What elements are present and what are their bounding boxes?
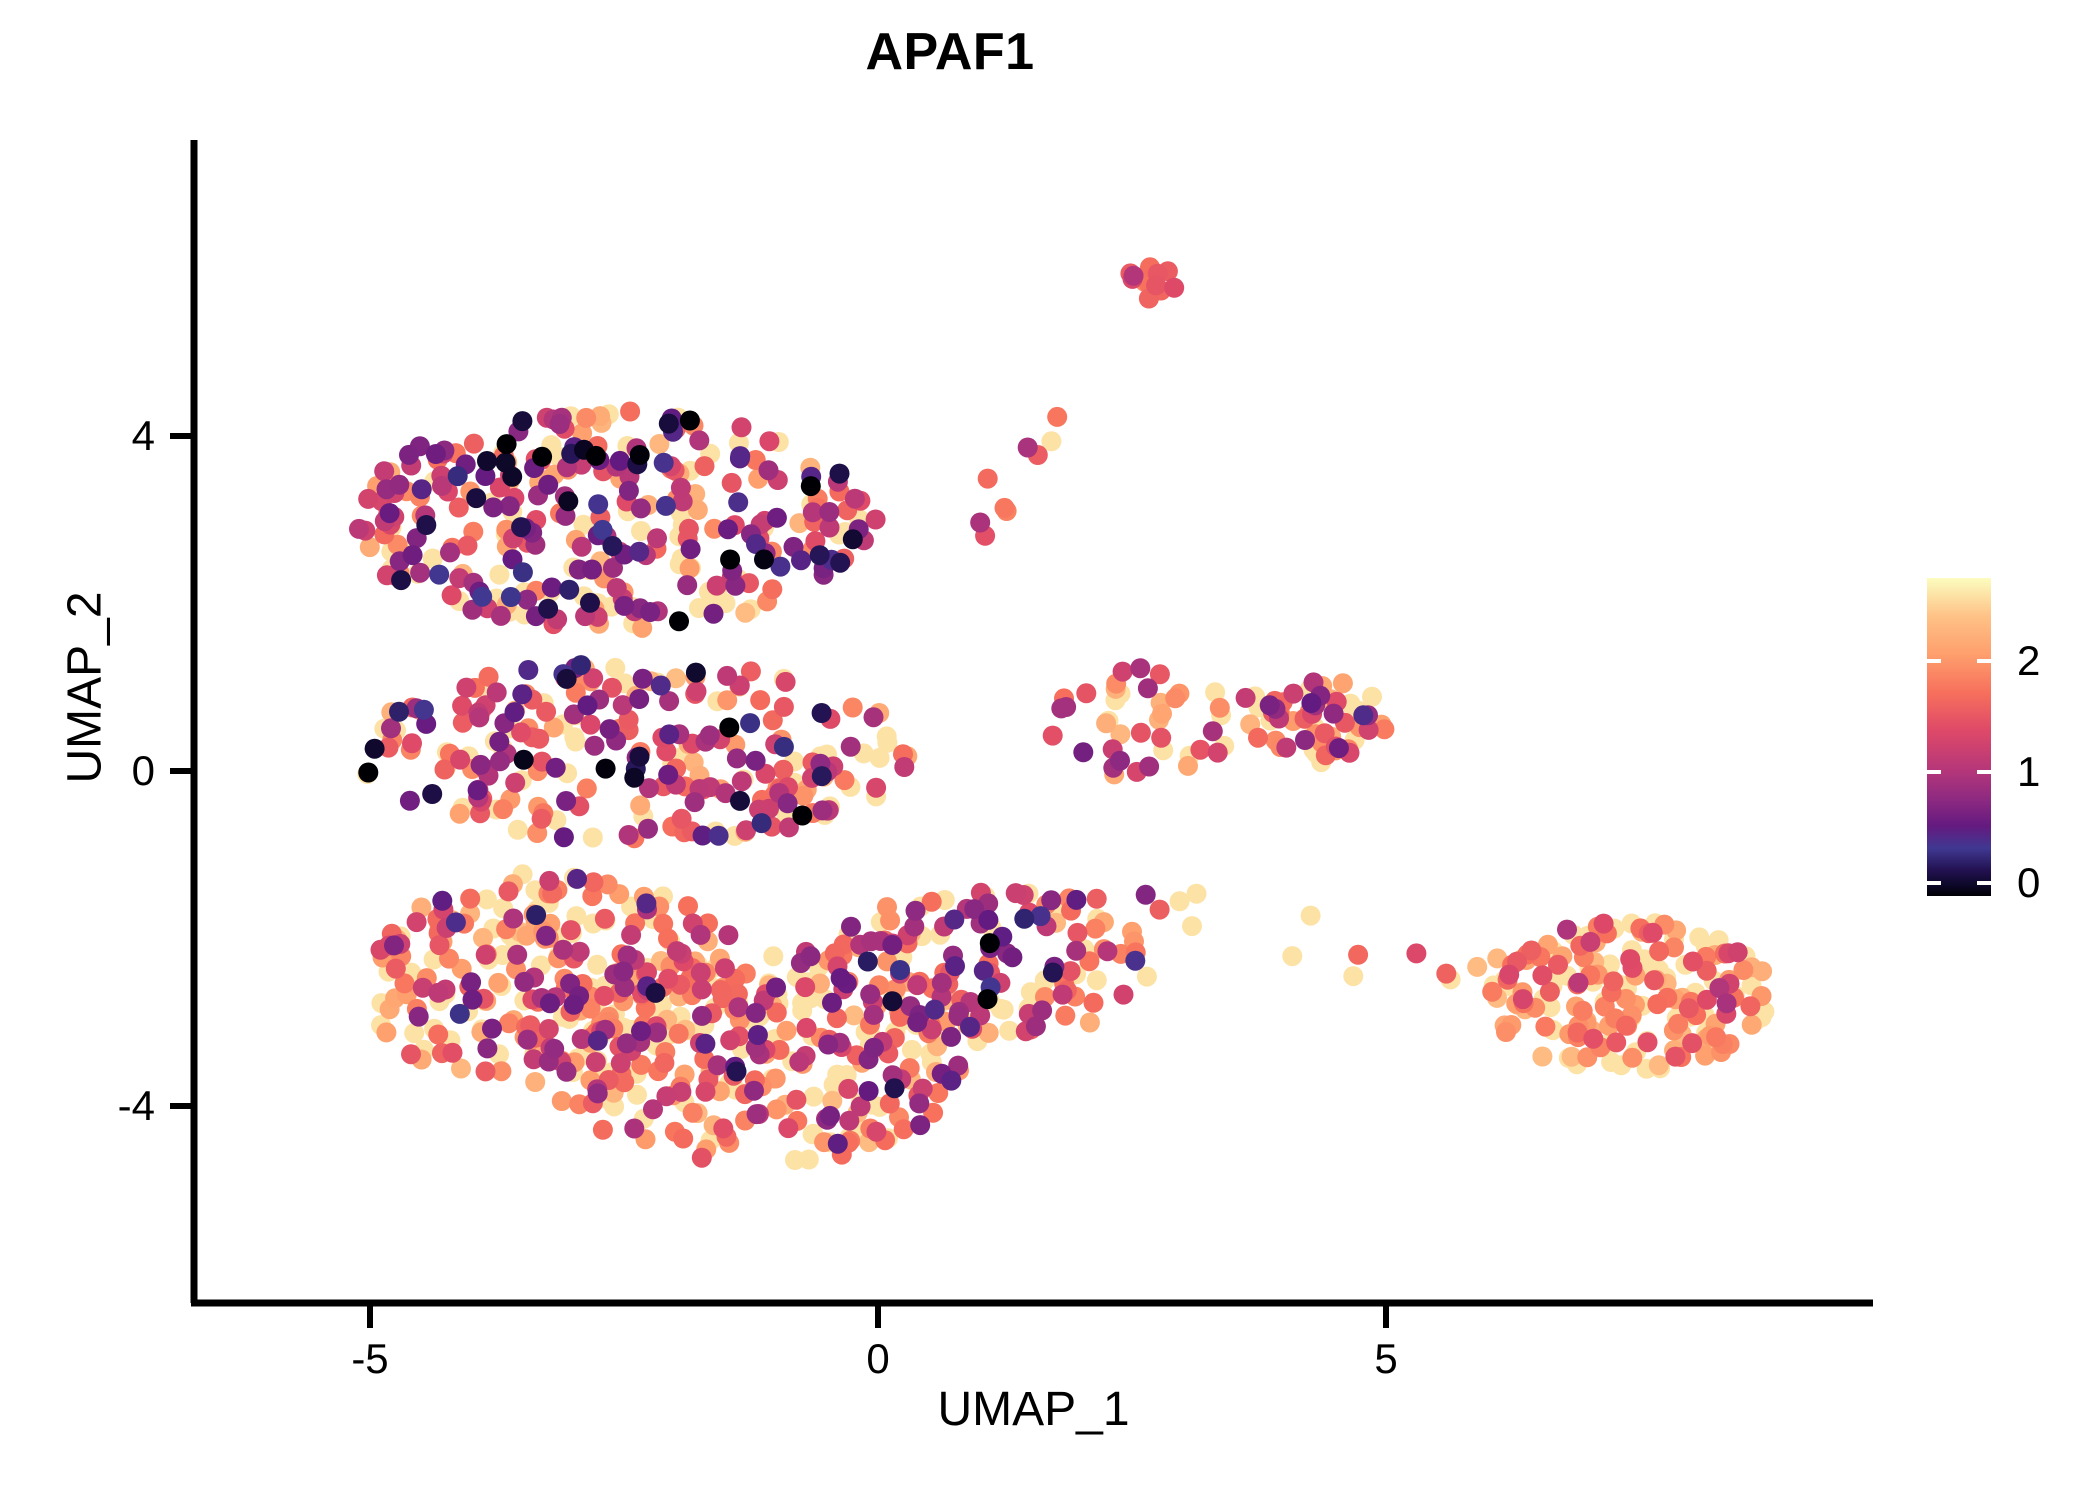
scatter-point bbox=[514, 972, 534, 992]
scatter-point bbox=[1283, 684, 1303, 704]
scatter-point bbox=[476, 945, 496, 965]
scatter-point bbox=[1343, 966, 1363, 986]
scatter-point bbox=[624, 768, 644, 788]
scatter-point bbox=[727, 748, 747, 768]
scatter-point bbox=[944, 910, 964, 930]
scatter-point bbox=[651, 676, 671, 696]
scatter-point bbox=[630, 747, 650, 767]
scatter-point bbox=[1051, 698, 1071, 718]
scatter-point bbox=[1125, 951, 1145, 971]
scatter-point bbox=[432, 891, 452, 911]
scatter-point bbox=[503, 909, 523, 929]
scatter-point bbox=[1087, 889, 1107, 909]
scatter-point bbox=[607, 578, 627, 598]
scatter-point bbox=[1068, 923, 1088, 943]
scatter-point bbox=[1573, 1001, 1593, 1021]
scatter-point bbox=[430, 935, 450, 955]
scatter-point bbox=[797, 1018, 817, 1038]
scatter-plot-panel bbox=[0, 0, 2100, 1500]
scatter-point bbox=[448, 466, 468, 486]
scatter-point bbox=[1165, 688, 1185, 708]
scatter-point bbox=[409, 1007, 429, 1027]
scatter-point bbox=[1644, 970, 1664, 990]
scatter-point bbox=[587, 955, 607, 975]
scatter-point bbox=[588, 1083, 608, 1103]
scatter-point bbox=[728, 492, 748, 512]
scatter-point bbox=[866, 510, 886, 530]
scatter-point bbox=[1018, 438, 1038, 458]
scatter-point bbox=[499, 881, 519, 901]
scatter-point bbox=[759, 460, 779, 480]
scatter-point bbox=[539, 1019, 559, 1039]
scatter-point bbox=[717, 666, 737, 686]
y-axis-title: UMAP_2 bbox=[58, 388, 113, 988]
scatter-point bbox=[1136, 885, 1156, 905]
scatter-point bbox=[1208, 743, 1228, 763]
scatter-point bbox=[1248, 728, 1268, 748]
x-axis-title: UMAP_1 bbox=[194, 1382, 1873, 1437]
scatter-point bbox=[508, 820, 528, 840]
scatter-point bbox=[429, 565, 449, 585]
scatter-point bbox=[700, 725, 720, 745]
scatter-point bbox=[1130, 658, 1150, 678]
scatter-point bbox=[629, 689, 649, 709]
scatter-point bbox=[1532, 965, 1552, 985]
scatter-point bbox=[557, 1062, 577, 1082]
scatter-point bbox=[732, 771, 752, 791]
scatter-point bbox=[640, 602, 660, 622]
scatter-point bbox=[1295, 730, 1315, 750]
scatter-point bbox=[499, 1013, 519, 1033]
scatter-point bbox=[391, 570, 411, 590]
scatter-point bbox=[538, 599, 558, 619]
scatter-point bbox=[995, 498, 1015, 518]
scatter-point bbox=[1535, 1017, 1555, 1037]
scatter-point bbox=[669, 1024, 689, 1044]
scatter-point bbox=[890, 960, 910, 980]
scatter-point bbox=[1203, 721, 1223, 741]
scatter-point bbox=[715, 958, 735, 978]
scatter-point bbox=[505, 702, 525, 722]
scatter-point bbox=[536, 702, 556, 722]
scatter-point bbox=[1178, 756, 1198, 776]
scatter-point bbox=[695, 1034, 715, 1054]
scatter-point bbox=[1301, 693, 1321, 713]
scatter-point bbox=[818, 1035, 838, 1055]
scatter-point bbox=[859, 1081, 879, 1101]
scatter-point bbox=[389, 702, 409, 722]
scatter-point bbox=[512, 684, 532, 704]
scatter-point bbox=[907, 1012, 927, 1032]
scatter-point bbox=[603, 536, 623, 556]
scatter-point bbox=[1638, 1032, 1658, 1052]
scatter-point bbox=[970, 513, 990, 533]
scatter-point bbox=[638, 819, 658, 839]
scatter-point bbox=[866, 778, 886, 798]
scatter-point bbox=[980, 933, 1000, 953]
scatter-point bbox=[729, 997, 749, 1017]
scatter-point bbox=[374, 461, 394, 481]
scatter-point bbox=[822, 993, 842, 1013]
scatter-point bbox=[925, 1000, 945, 1020]
scatter-point bbox=[358, 763, 378, 783]
scatter-point bbox=[812, 800, 832, 820]
scatter-point bbox=[595, 909, 615, 929]
scatter-point bbox=[426, 444, 446, 464]
scatter-point bbox=[785, 1150, 805, 1170]
scatter-point bbox=[389, 475, 409, 495]
scatter-point bbox=[858, 952, 878, 972]
scatter-point bbox=[401, 1044, 421, 1064]
scatter-point bbox=[557, 669, 577, 689]
scatter-point bbox=[600, 719, 620, 739]
scatter-point bbox=[586, 446, 606, 466]
scatter-point bbox=[407, 912, 427, 932]
scatter-point bbox=[517, 926, 537, 946]
scatter-point bbox=[774, 737, 794, 757]
scatter-point bbox=[673, 1129, 693, 1149]
scatter-point bbox=[860, 984, 880, 1004]
scatter-point bbox=[838, 1079, 858, 1099]
scatter-point bbox=[945, 956, 965, 976]
scatter-point bbox=[1620, 949, 1640, 969]
scatter-point bbox=[774, 697, 794, 717]
scatter-point bbox=[727, 1062, 747, 1082]
scatter-point bbox=[1014, 909, 1034, 929]
scatter-point bbox=[1496, 1022, 1516, 1042]
scatter-point bbox=[1348, 945, 1368, 965]
scatter-point bbox=[544, 1039, 564, 1059]
scatter-point bbox=[1131, 723, 1151, 743]
scatter-point bbox=[552, 1091, 572, 1111]
scatter-point bbox=[358, 489, 378, 509]
scatter-point bbox=[410, 563, 430, 583]
scatter-point bbox=[735, 603, 755, 623]
scatter-point bbox=[746, 1003, 766, 1023]
scatter-point bbox=[1170, 891, 1190, 911]
scatter-point bbox=[630, 795, 650, 815]
scatter-point bbox=[812, 766, 832, 786]
scatter-point bbox=[561, 920, 581, 940]
scatter-point bbox=[1282, 946, 1302, 966]
scatter-point bbox=[1583, 1029, 1603, 1049]
scatter-point bbox=[680, 411, 700, 431]
scatter-point bbox=[403, 545, 423, 565]
scatter-point bbox=[686, 663, 706, 683]
scatter-point bbox=[596, 759, 616, 779]
scatter-point bbox=[1066, 941, 1086, 961]
scatter-point bbox=[882, 991, 902, 1011]
scatter-point bbox=[683, 1103, 703, 1123]
scatter-point bbox=[839, 1111, 859, 1131]
scatter-point bbox=[819, 502, 839, 522]
y-axis-ticks bbox=[170, 436, 194, 1106]
scatter-point bbox=[376, 1022, 396, 1042]
scatter-point bbox=[932, 973, 952, 993]
scatter-point bbox=[593, 1120, 613, 1140]
scatter-point bbox=[399, 445, 419, 465]
scatter-point bbox=[1329, 738, 1349, 758]
scatter-point bbox=[643, 1099, 663, 1119]
color-legend: 012 bbox=[1927, 578, 2087, 898]
scatter-point bbox=[1026, 1016, 1046, 1036]
scatter-point bbox=[1138, 678, 1158, 698]
scatter-point bbox=[906, 901, 926, 921]
scatter-point bbox=[820, 1106, 840, 1126]
scatter-point bbox=[748, 1025, 768, 1045]
scatter-point bbox=[1406, 943, 1426, 963]
scatter-point bbox=[654, 453, 674, 473]
scatter-point bbox=[1706, 1027, 1726, 1047]
scatter-point bbox=[722, 473, 742, 493]
scatter-point bbox=[752, 813, 772, 833]
scatter-point bbox=[446, 912, 466, 932]
scatter-point bbox=[692, 1006, 712, 1026]
scatter-point bbox=[1682, 1033, 1702, 1053]
scatter-point bbox=[1096, 713, 1116, 733]
scatter-point bbox=[882, 935, 902, 955]
scatter-point bbox=[1260, 695, 1280, 715]
scatter-point bbox=[631, 498, 651, 518]
umap-feature-plot: APAF1 -404 -505 UMAP_1 UMAP_2 012 bbox=[0, 0, 2100, 1500]
scatter-point bbox=[578, 695, 598, 715]
scatter-point bbox=[559, 580, 579, 600]
scatter-point bbox=[611, 1053, 631, 1073]
scatter-point bbox=[469, 707, 489, 727]
scatter-point bbox=[791, 550, 811, 570]
scatter-point bbox=[525, 1072, 545, 1092]
scatter-point bbox=[450, 804, 470, 824]
y-tick-label: -4 bbox=[10, 1082, 155, 1130]
scatter-point bbox=[960, 1017, 980, 1037]
scatter-point bbox=[978, 469, 998, 489]
scatter-point bbox=[365, 739, 385, 759]
scatter-point bbox=[1110, 751, 1130, 771]
scatter-point bbox=[546, 758, 566, 778]
x-tick-label: 5 bbox=[1374, 1335, 1397, 1383]
scatter-point bbox=[1649, 941, 1669, 961]
scatter-point bbox=[777, 1021, 797, 1041]
scatter-point bbox=[1301, 906, 1321, 926]
scatter-point bbox=[910, 1115, 930, 1135]
scatter-point bbox=[491, 606, 511, 626]
scatter-point bbox=[740, 713, 760, 733]
scatter-point bbox=[754, 549, 774, 569]
scatter-point bbox=[477, 451, 497, 471]
colorbar-tick-label: 1 bbox=[2017, 748, 2040, 796]
scatter-point bbox=[1606, 1032, 1626, 1052]
scatter-point bbox=[1076, 683, 1096, 703]
scatter-point bbox=[1276, 738, 1296, 758]
scatter-point bbox=[619, 481, 639, 501]
colorbar-tick-mark bbox=[1977, 770, 1991, 774]
scatter-point bbox=[864, 1005, 884, 1025]
scatter-point bbox=[1643, 923, 1663, 943]
scatter-point bbox=[1499, 965, 1519, 985]
scatter-point bbox=[536, 926, 556, 946]
scatter-point bbox=[384, 935, 404, 955]
scatter-point bbox=[1151, 728, 1171, 748]
scatter-point bbox=[450, 750, 470, 770]
scatter-point bbox=[704, 604, 724, 624]
scatter-point bbox=[443, 1043, 463, 1063]
scatter-point bbox=[1603, 971, 1623, 991]
scatter-point bbox=[513, 562, 533, 582]
scatter-point bbox=[1513, 989, 1533, 1009]
scatter-point bbox=[1146, 275, 1166, 295]
scatter-point bbox=[1362, 687, 1382, 707]
scatter-point bbox=[490, 751, 510, 771]
scatter-point bbox=[621, 925, 641, 945]
scatter-point bbox=[1616, 1016, 1636, 1036]
scatter-point bbox=[487, 682, 507, 702]
scatter-point bbox=[572, 537, 592, 557]
scatter-point bbox=[542, 578, 562, 598]
scatter-point bbox=[679, 519, 699, 539]
scatter-point bbox=[746, 751, 766, 771]
scatter-point bbox=[718, 925, 738, 945]
scatter-point bbox=[581, 715, 601, 735]
scatter-point bbox=[696, 1082, 716, 1102]
colorbar-tick-mark bbox=[1977, 659, 1991, 663]
scatter-point bbox=[584, 872, 604, 892]
scatter-point bbox=[1752, 961, 1772, 981]
colorbar-gradient bbox=[1927, 578, 1991, 896]
scatter-point bbox=[1717, 993, 1737, 1013]
scatter-point bbox=[493, 799, 513, 819]
scatter-point bbox=[767, 508, 787, 528]
scatter-point bbox=[540, 993, 560, 1013]
scatter-point bbox=[482, 1019, 502, 1039]
scatter-point bbox=[1073, 742, 1093, 762]
scatter-point bbox=[582, 560, 602, 580]
scatter-point bbox=[795, 977, 815, 997]
scatter-point bbox=[489, 565, 509, 585]
scatter-point bbox=[909, 1093, 929, 1113]
scatter-point bbox=[941, 1027, 961, 1047]
scatter-point bbox=[691, 925, 711, 945]
scatter-point bbox=[763, 946, 783, 966]
colorbar-tick-mark bbox=[1977, 881, 1991, 885]
scatter-point bbox=[1080, 1013, 1100, 1033]
scatter-point bbox=[442, 585, 462, 605]
scatter-point bbox=[428, 983, 448, 1003]
scatter-point bbox=[550, 414, 570, 434]
scatter-point bbox=[877, 726, 897, 746]
scatter-point bbox=[349, 519, 369, 539]
scatter-point bbox=[526, 905, 546, 925]
scatter-point bbox=[1467, 957, 1487, 977]
scatter-point bbox=[501, 587, 521, 607]
scatter-point bbox=[613, 962, 633, 982]
scatter-point bbox=[1324, 704, 1344, 724]
scatter-point bbox=[720, 550, 740, 570]
scatter-point bbox=[677, 575, 697, 595]
scatter-point bbox=[422, 784, 442, 804]
scatter-point bbox=[1679, 998, 1699, 1018]
scatter-point bbox=[1580, 932, 1600, 952]
x-axis-ticks bbox=[370, 1303, 1386, 1328]
scatter-point bbox=[594, 986, 614, 1006]
scatter-point bbox=[583, 828, 603, 848]
scatter-point bbox=[380, 503, 400, 523]
scatter-point bbox=[619, 825, 639, 845]
scatter-point bbox=[1043, 726, 1063, 746]
scatter-point bbox=[558, 491, 578, 511]
scatter-point bbox=[1647, 994, 1667, 1014]
scatter-point bbox=[450, 1004, 470, 1024]
scatter-point bbox=[672, 809, 692, 829]
scatter-point bbox=[1053, 985, 1073, 1005]
scatter-point bbox=[620, 402, 640, 422]
scatter-point bbox=[719, 718, 739, 738]
scatter-point bbox=[1728, 942, 1748, 962]
scatter-point bbox=[776, 672, 796, 692]
scatter-point bbox=[468, 780, 488, 800]
scatter-point bbox=[539, 871, 559, 891]
scatter-point bbox=[941, 1071, 961, 1091]
scatter-point bbox=[830, 464, 850, 484]
scatter-point bbox=[624, 1119, 644, 1139]
scatter-point bbox=[750, 690, 770, 710]
scatter-point bbox=[588, 494, 608, 514]
scatter-point bbox=[767, 1099, 787, 1119]
colorbar-tick-mark bbox=[1927, 770, 1941, 774]
scatter-point bbox=[1087, 970, 1107, 990]
scatter-point bbox=[1047, 407, 1067, 427]
scatter-point bbox=[476, 1061, 496, 1081]
scatter-point bbox=[464, 434, 484, 454]
scatter-point bbox=[538, 475, 558, 495]
scatter-point bbox=[1689, 927, 1709, 947]
scatter-point bbox=[792, 806, 812, 826]
scatter-point bbox=[843, 698, 863, 718]
scatter-point bbox=[483, 497, 503, 517]
scatter-point bbox=[554, 827, 574, 847]
scatter-point bbox=[766, 978, 786, 998]
scatter-point bbox=[588, 1031, 608, 1051]
scatter-point bbox=[477, 1038, 497, 1058]
scatter-point bbox=[458, 536, 478, 556]
scatter-point bbox=[845, 489, 865, 509]
scatter-point bbox=[685, 792, 705, 812]
scatter-point bbox=[1114, 985, 1134, 1005]
scatter-point bbox=[518, 660, 538, 680]
scatter-point bbox=[841, 917, 861, 937]
scatter-point bbox=[687, 681, 707, 701]
scatter-point bbox=[894, 757, 914, 777]
scatter-point bbox=[656, 496, 676, 516]
scatter-point bbox=[556, 791, 576, 811]
scatter-point bbox=[1353, 705, 1373, 725]
scatter-point bbox=[1236, 688, 1256, 708]
scatter-point bbox=[667, 941, 687, 961]
scatter-point bbox=[497, 434, 517, 454]
scatter-point bbox=[1333, 673, 1353, 693]
scatter-point bbox=[1557, 920, 1577, 940]
scatter-point bbox=[689, 430, 709, 450]
scatter-point bbox=[416, 515, 436, 535]
scatter-point bbox=[831, 968, 851, 988]
scatter-point bbox=[633, 669, 653, 689]
scatter-point bbox=[646, 983, 666, 1003]
scatter-point bbox=[732, 417, 752, 437]
scatter-point bbox=[671, 478, 691, 498]
scatter-point bbox=[428, 1025, 448, 1045]
scatter-point bbox=[472, 587, 492, 607]
scatter-point bbox=[695, 456, 715, 476]
scatter-point bbox=[1740, 996, 1760, 1016]
